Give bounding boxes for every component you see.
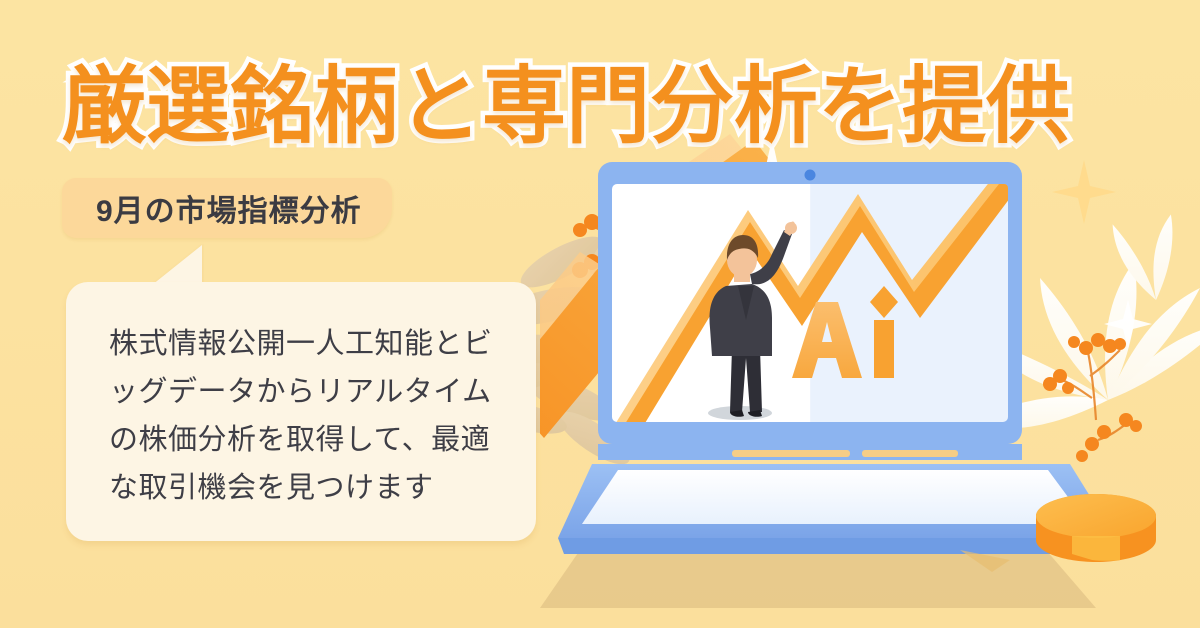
promo-banner: 厳選銘柄と専門分析を提供 9月の市場指標分析 株式情報公開一人工知能とビッグデー… (0, 0, 1200, 628)
page-title: 厳選銘柄と専門分析を提供 (62, 52, 1142, 160)
laptop-camera-icon (805, 170, 816, 181)
gold-coin-icon (1036, 494, 1156, 562)
speech-bubble-tail (152, 245, 202, 285)
laptop-base (540, 444, 1116, 608)
laptop-ai-illustration (540, 120, 1200, 628)
speech-bubble-text: 株式情報公開一人工知能とビッグデータからリアルタイムの株価分析を取得して、最適な… (109, 320, 507, 512)
status-badge: 9月の市場指標分析 (62, 178, 392, 238)
speech-bubble-card: 株式情報公開一人工知能とビッグデータからリアルタイムの株価分析を取得して、最適な… (66, 282, 536, 541)
laptop-lid (598, 156, 1022, 444)
status-badge-label: 9月の市場指標分析 (96, 186, 362, 230)
